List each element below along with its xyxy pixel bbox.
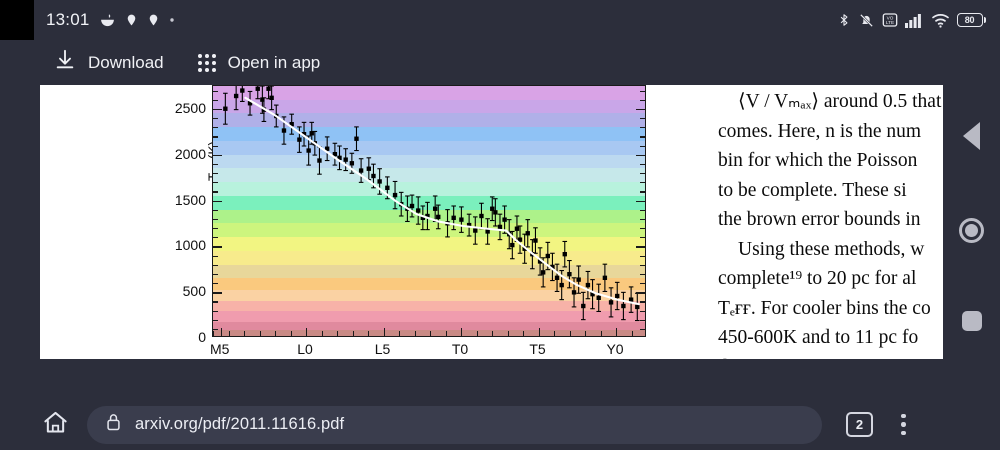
x-tick-label: L5 (353, 341, 413, 357)
x-tick-major (616, 328, 617, 336)
x-tick (275, 331, 276, 336)
home-icon[interactable] (42, 409, 69, 441)
tab-switcher-button[interactable]: 2 (846, 412, 873, 437)
x-tick (291, 331, 292, 336)
status-bar: 13:01 (0, 0, 1000, 40)
browser-bottom-bar: arxiv.org/pdf/2011.11616.pdf 2 (0, 399, 1000, 450)
y-tick (213, 118, 218, 119)
open-in-app-button[interactable]: Open in app (192, 50, 327, 76)
y-tick (213, 146, 218, 147)
tab-count-label: 2 (856, 417, 863, 432)
x-tick (415, 331, 416, 336)
y-tick (636, 246, 645, 247)
y-tick (636, 292, 645, 293)
x-tick-major (539, 328, 540, 336)
y-tick (213, 164, 218, 165)
y-tick (213, 100, 218, 101)
y-tick (213, 210, 218, 211)
y-tick (213, 292, 222, 293)
download-button[interactable]: Download (48, 45, 170, 80)
x-tick-label: M5 (190, 341, 250, 357)
y-tick (213, 228, 218, 229)
y-tick (213, 274, 218, 275)
x-tick (492, 331, 493, 336)
y-tick (640, 164, 645, 165)
y-tick (640, 118, 645, 119)
x-tick (477, 331, 478, 336)
x-tick (353, 331, 354, 336)
status-bar-right: VO LTE (837, 11, 987, 29)
x-tick (585, 331, 586, 336)
phone-screen: 13:01 (0, 0, 1000, 450)
x-tick (368, 331, 369, 336)
x-tick-major (461, 328, 462, 336)
x-tick-major (306, 328, 307, 336)
x-tick (430, 331, 431, 336)
status-bar-left: 13:01 (46, 10, 175, 30)
x-tick (260, 331, 261, 336)
y-tick (213, 246, 222, 247)
y-tick (213, 256, 218, 257)
y-tick (213, 182, 218, 183)
y-tick (640, 136, 645, 137)
x-tick-label: Y0 (585, 341, 645, 357)
y-tick (213, 283, 218, 284)
url-text: arxiv.org/pdf/2011.11616.pdf (135, 415, 344, 434)
dot-icon (169, 17, 175, 23)
y-tick (213, 301, 218, 302)
bell-muted-icon (858, 12, 875, 29)
back-triangle-icon[interactable] (963, 122, 980, 150)
x-tick (244, 331, 245, 336)
figure-teff-vs-spectral-type: Teff (K) 05001000150020002500 M5L0L5T0T5… (40, 85, 700, 359)
x-tick (523, 331, 524, 336)
y-tick (640, 91, 645, 92)
y-tick (640, 256, 645, 257)
y-tick (213, 109, 222, 110)
x-tick (399, 331, 400, 336)
y-tick-label: 1000 (146, 237, 206, 253)
wifi-icon (931, 13, 950, 28)
y-tick (213, 191, 218, 192)
y-tick (640, 191, 645, 192)
x-tick-label: T5 (508, 341, 568, 357)
y-tick (640, 329, 645, 330)
apps-grid-icon (198, 54, 216, 72)
y-tick (640, 265, 645, 266)
y-tick (640, 283, 645, 284)
x-tick (570, 331, 571, 336)
url-bar[interactable]: arxiv.org/pdf/2011.11616.pdf (87, 406, 822, 444)
y-tick (640, 274, 645, 275)
location-pin-icon-2 (147, 12, 160, 28)
y-tick (213, 127, 218, 128)
y-tick (636, 109, 645, 110)
status-clock: 13:01 (46, 10, 90, 30)
volte-icon: VO LTE (882, 12, 898, 28)
signal-bars-icon (905, 12, 924, 28)
recents-square-icon[interactable] (962, 311, 982, 331)
y-tick (640, 320, 645, 321)
y-tick (640, 301, 645, 302)
y-tick-label: 2000 (146, 146, 206, 162)
y-tick (213, 329, 218, 330)
y-tick (213, 311, 218, 312)
x-tick (508, 331, 509, 336)
download-label: Download (88, 53, 164, 73)
y-tick (213, 201, 222, 202)
y-tick (213, 136, 218, 137)
navigation-overlay (943, 40, 1000, 399)
y-tick (640, 182, 645, 183)
y-tick (636, 155, 645, 156)
svg-text:LTE: LTE (885, 20, 893, 25)
y-tick (640, 219, 645, 220)
y-tick (213, 320, 218, 321)
x-tick (554, 331, 555, 336)
y-tick (213, 219, 218, 220)
y-tick-label: 500 (146, 283, 206, 299)
overflow-menu-icon[interactable] (895, 408, 912, 442)
x-tick (601, 331, 602, 336)
download-icon (54, 48, 76, 77)
y-tick (213, 155, 222, 156)
y-tick (640, 237, 645, 238)
y-tick (213, 265, 218, 266)
y-tick (640, 100, 645, 101)
location-pin-icon (125, 12, 138, 28)
y-tick (213, 173, 218, 174)
battery-level: 80 (965, 15, 974, 25)
lock-icon (105, 412, 122, 437)
x-tick (229, 331, 230, 336)
y-tick (640, 146, 645, 147)
y-tick (640, 311, 645, 312)
x-tick (446, 331, 447, 336)
y-tick (640, 228, 645, 229)
bluetooth-icon (837, 11, 851, 29)
x-tick-major (221, 328, 222, 336)
x-tick (337, 331, 338, 336)
plot-area (212, 85, 646, 337)
home-circle-icon[interactable] (959, 218, 984, 243)
trendline-layer (213, 86, 645, 336)
y-tick-label: 2500 (146, 100, 206, 116)
plot-wrapper: Teff (K) 05001000150020002500 M5L0L5T0T5… (212, 85, 646, 337)
x-tick-major (384, 328, 385, 336)
y-tick (636, 201, 645, 202)
pdf-page-viewport[interactable]: Teff (K) 05001000150020002500 M5L0L5T0T5… (40, 85, 1000, 359)
y-tick (640, 127, 645, 128)
y-tick-label: 1500 (146, 192, 206, 208)
y-tick (213, 91, 218, 92)
x-tick-label: L0 (275, 341, 335, 357)
y-tick (640, 210, 645, 211)
open-in-app-label: Open in app (228, 53, 321, 73)
battery-icon: 80 (957, 13, 987, 27)
pdf-toolbar: Download Open in app (0, 40, 1000, 85)
bowl-icon (99, 12, 116, 29)
x-tick (213, 331, 214, 336)
y-tick (640, 173, 645, 174)
x-tick-label: T0 (430, 341, 490, 357)
x-tick (322, 331, 323, 336)
x-tick (632, 331, 633, 336)
y-tick (213, 237, 218, 238)
